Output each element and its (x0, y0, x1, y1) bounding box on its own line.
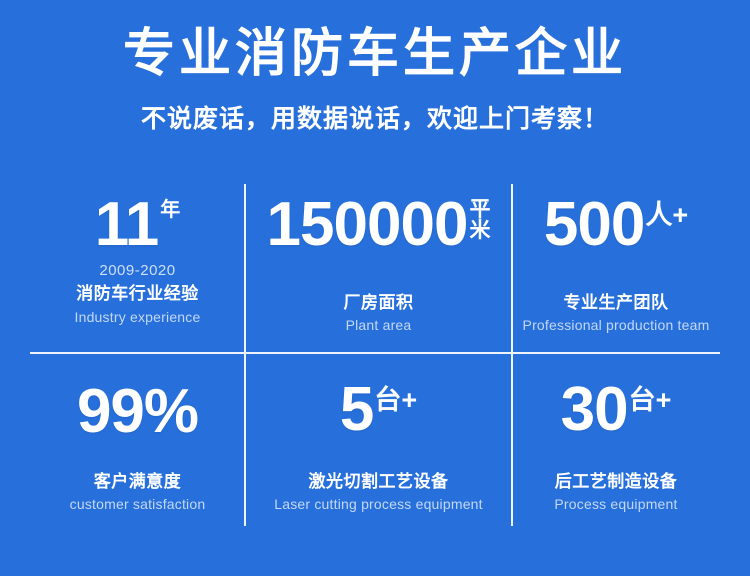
stat-cell-customer-satisfaction: 99% 客户满意度 customer satisfaction (30, 353, 245, 526)
stat-value: 99% (77, 383, 198, 442)
stat-cell-process-equipment: 30 台+ 后工艺制造设备 Process equipment (512, 353, 720, 526)
stat-label-en: customer satisfaction (70, 496, 206, 513)
stat-cell-laser-cutting-equipment: 5 台+ 激光切割工艺设备 Laser cutting process equi… (245, 353, 512, 526)
stat-unit-line-1: 平 (469, 199, 490, 220)
page-title: 专业消防车生产企业 (0, 26, 750, 83)
stat-cell-industry-experience: 11 年 2009-2020 消防车行业经验 Industry experien… (30, 184, 245, 353)
stat-cell-production-team: 500 人+ 专业生产团队 Professional production te… (512, 184, 720, 353)
stat-unit: 台+ (374, 387, 417, 414)
stat-range: 2009-2020 (99, 263, 175, 280)
banner-header: 专业消防车生产企业 不说废话，用数据说话，欢迎上门考察！ (0, 0, 750, 135)
stat-value-row: 500 人+ (544, 196, 688, 255)
stat-value-row: 99% (77, 383, 198, 442)
stat-value: 500 (544, 196, 644, 255)
stat-label-cn: 客户满意度 (94, 472, 182, 492)
stat-value: 150000 (267, 196, 468, 255)
stat-label-en: Laser cutting process equipment (274, 496, 483, 513)
stat-value-row: 5 台+ (340, 381, 417, 440)
stat-label-en: Plant area (346, 317, 412, 334)
stat-label-en: Industry experience (75, 309, 201, 326)
stat-value-row: 150000 平 米 (267, 196, 491, 255)
stat-value-row: 11 年 (95, 196, 181, 255)
stat-label-cn: 激光切割工艺设备 (309, 472, 449, 492)
stat-label-en: Process equipment (554, 496, 677, 513)
stat-value: 5 (340, 381, 373, 440)
stat-cell-plant-area: 150000 平 米 厂房面积 Plant area (245, 184, 512, 353)
stats-grid: 11 年 2009-2020 消防车行业经验 Industry experien… (30, 184, 720, 526)
stat-label-cn: 后工艺制造设备 (555, 472, 678, 492)
stat-label-en: Professional production team (523, 317, 710, 334)
stat-label-cn: 厂房面积 (344, 293, 414, 313)
stat-label-cn: 专业生产团队 (564, 293, 669, 313)
stat-value: 11 (95, 196, 159, 255)
promo-banner: 专业消防车生产企业 不说废话，用数据说话，欢迎上门考察！ 11 年 2009-2… (0, 0, 750, 576)
stat-unit: 人+ (645, 202, 688, 229)
stat-value-row: 30 台+ (561, 381, 672, 440)
stat-unit: 台+ (629, 387, 672, 414)
stat-label-cn: 消防车行业经验 (76, 284, 199, 304)
page-subtitle: 不说废话，用数据说话，欢迎上门考察！ (0, 99, 750, 135)
stat-unit: 年 (160, 200, 180, 220)
stat-value: 30 (561, 381, 628, 440)
stat-unit-stacked: 平 米 (469, 199, 490, 242)
stat-unit-line-2: 米 (469, 220, 490, 241)
